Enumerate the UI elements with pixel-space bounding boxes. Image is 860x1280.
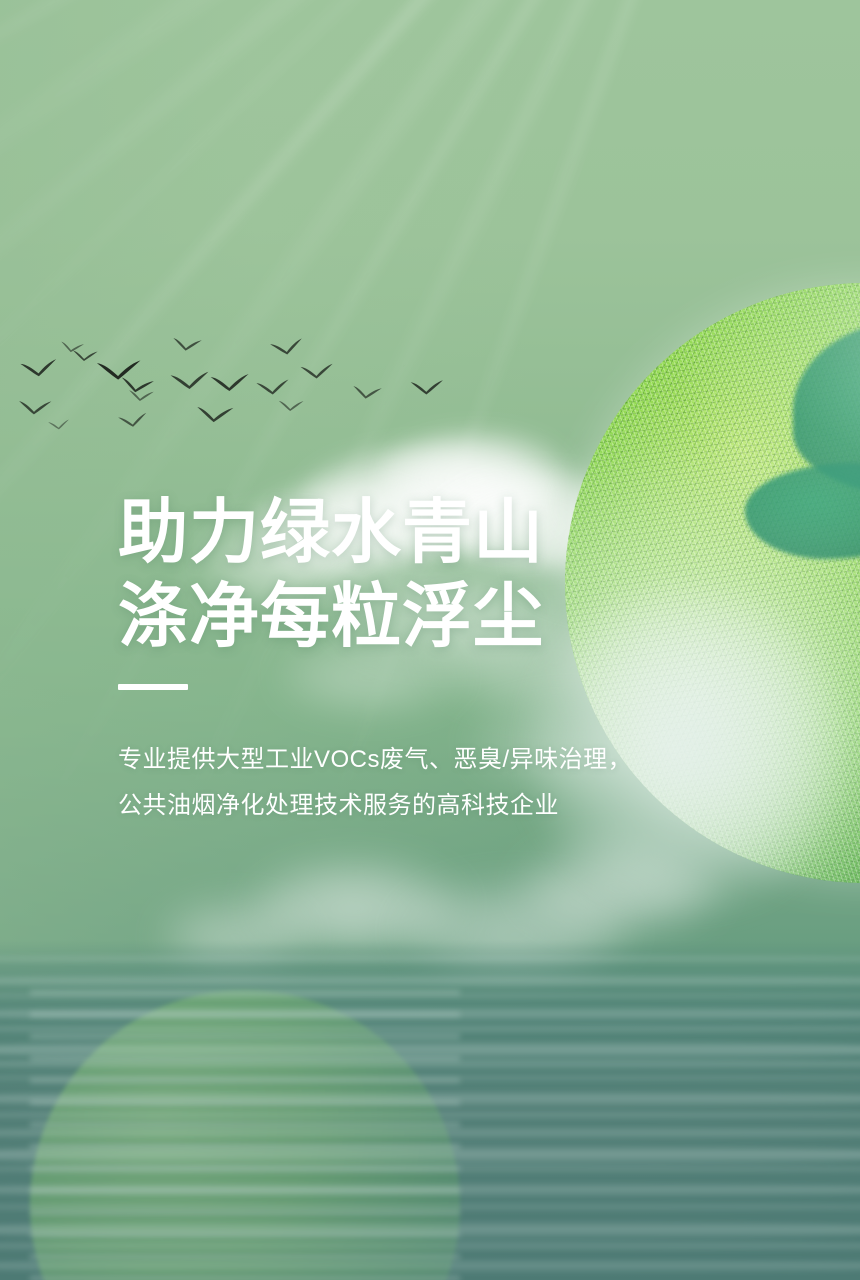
water-ripple bbox=[0, 1074, 860, 1082]
water-ripple bbox=[0, 1024, 860, 1034]
eco-banner: 助力绿水青山 涤净每粒浮尘 专业提供大型工业VOCs废气、恶臭/异味治理， 公共… bbox=[0, 0, 860, 1280]
birds-flock bbox=[0, 330, 470, 460]
bird-icon bbox=[255, 379, 290, 397]
headline-divider bbox=[118, 684, 188, 690]
headline-line-1: 助力绿水青山 bbox=[118, 490, 632, 574]
bird-icon bbox=[19, 358, 59, 379]
water-ripple bbox=[0, 1040, 860, 1060]
bird-icon bbox=[18, 399, 53, 415]
bird-icon bbox=[210, 373, 251, 393]
water-ripple bbox=[0, 1090, 860, 1108]
headline-line-2: 涤净每粒浮尘 bbox=[118, 574, 632, 658]
water-ripple bbox=[0, 1006, 860, 1022]
bird-icon bbox=[410, 379, 445, 395]
bird-icon bbox=[59, 340, 84, 354]
water-surface bbox=[0, 940, 860, 1280]
subtitle-line-2: 公共油烟净化处理技术服务的高科技企业 bbox=[118, 786, 632, 826]
subtitle-line-1: 专业提供大型工业VOCs废气、恶臭/异味治理， bbox=[118, 740, 632, 780]
bird-icon bbox=[128, 389, 155, 403]
water-ripple bbox=[0, 1144, 860, 1166]
water-ripple bbox=[0, 1164, 860, 1174]
water-ripple bbox=[0, 992, 860, 1000]
water-ripple bbox=[0, 1240, 860, 1252]
bird-icon bbox=[171, 336, 202, 353]
water-ripple bbox=[0, 974, 860, 988]
bird-icon bbox=[351, 384, 382, 401]
banner-copy: 助力绿水青山 涤净每粒浮尘 专业提供大型工业VOCs废气、恶臭/异味治理， 公共… bbox=[118, 490, 632, 826]
water-ripple bbox=[0, 1126, 860, 1140]
bird-icon bbox=[278, 400, 304, 413]
water-ripple bbox=[0, 1110, 860, 1120]
bird-icon bbox=[117, 412, 149, 430]
bird-icon bbox=[269, 337, 305, 357]
water-ripple bbox=[0, 1220, 860, 1240]
water-ripple bbox=[0, 1058, 860, 1070]
water-ripple bbox=[0, 1182, 860, 1198]
water-ripple bbox=[0, 954, 860, 964]
bird-icon bbox=[196, 405, 235, 424]
bird-icon bbox=[169, 371, 210, 392]
water-ripple bbox=[0, 1258, 860, 1274]
bird-icon bbox=[48, 419, 71, 431]
water-ripple bbox=[0, 1202, 860, 1212]
bird-icon bbox=[300, 363, 335, 381]
